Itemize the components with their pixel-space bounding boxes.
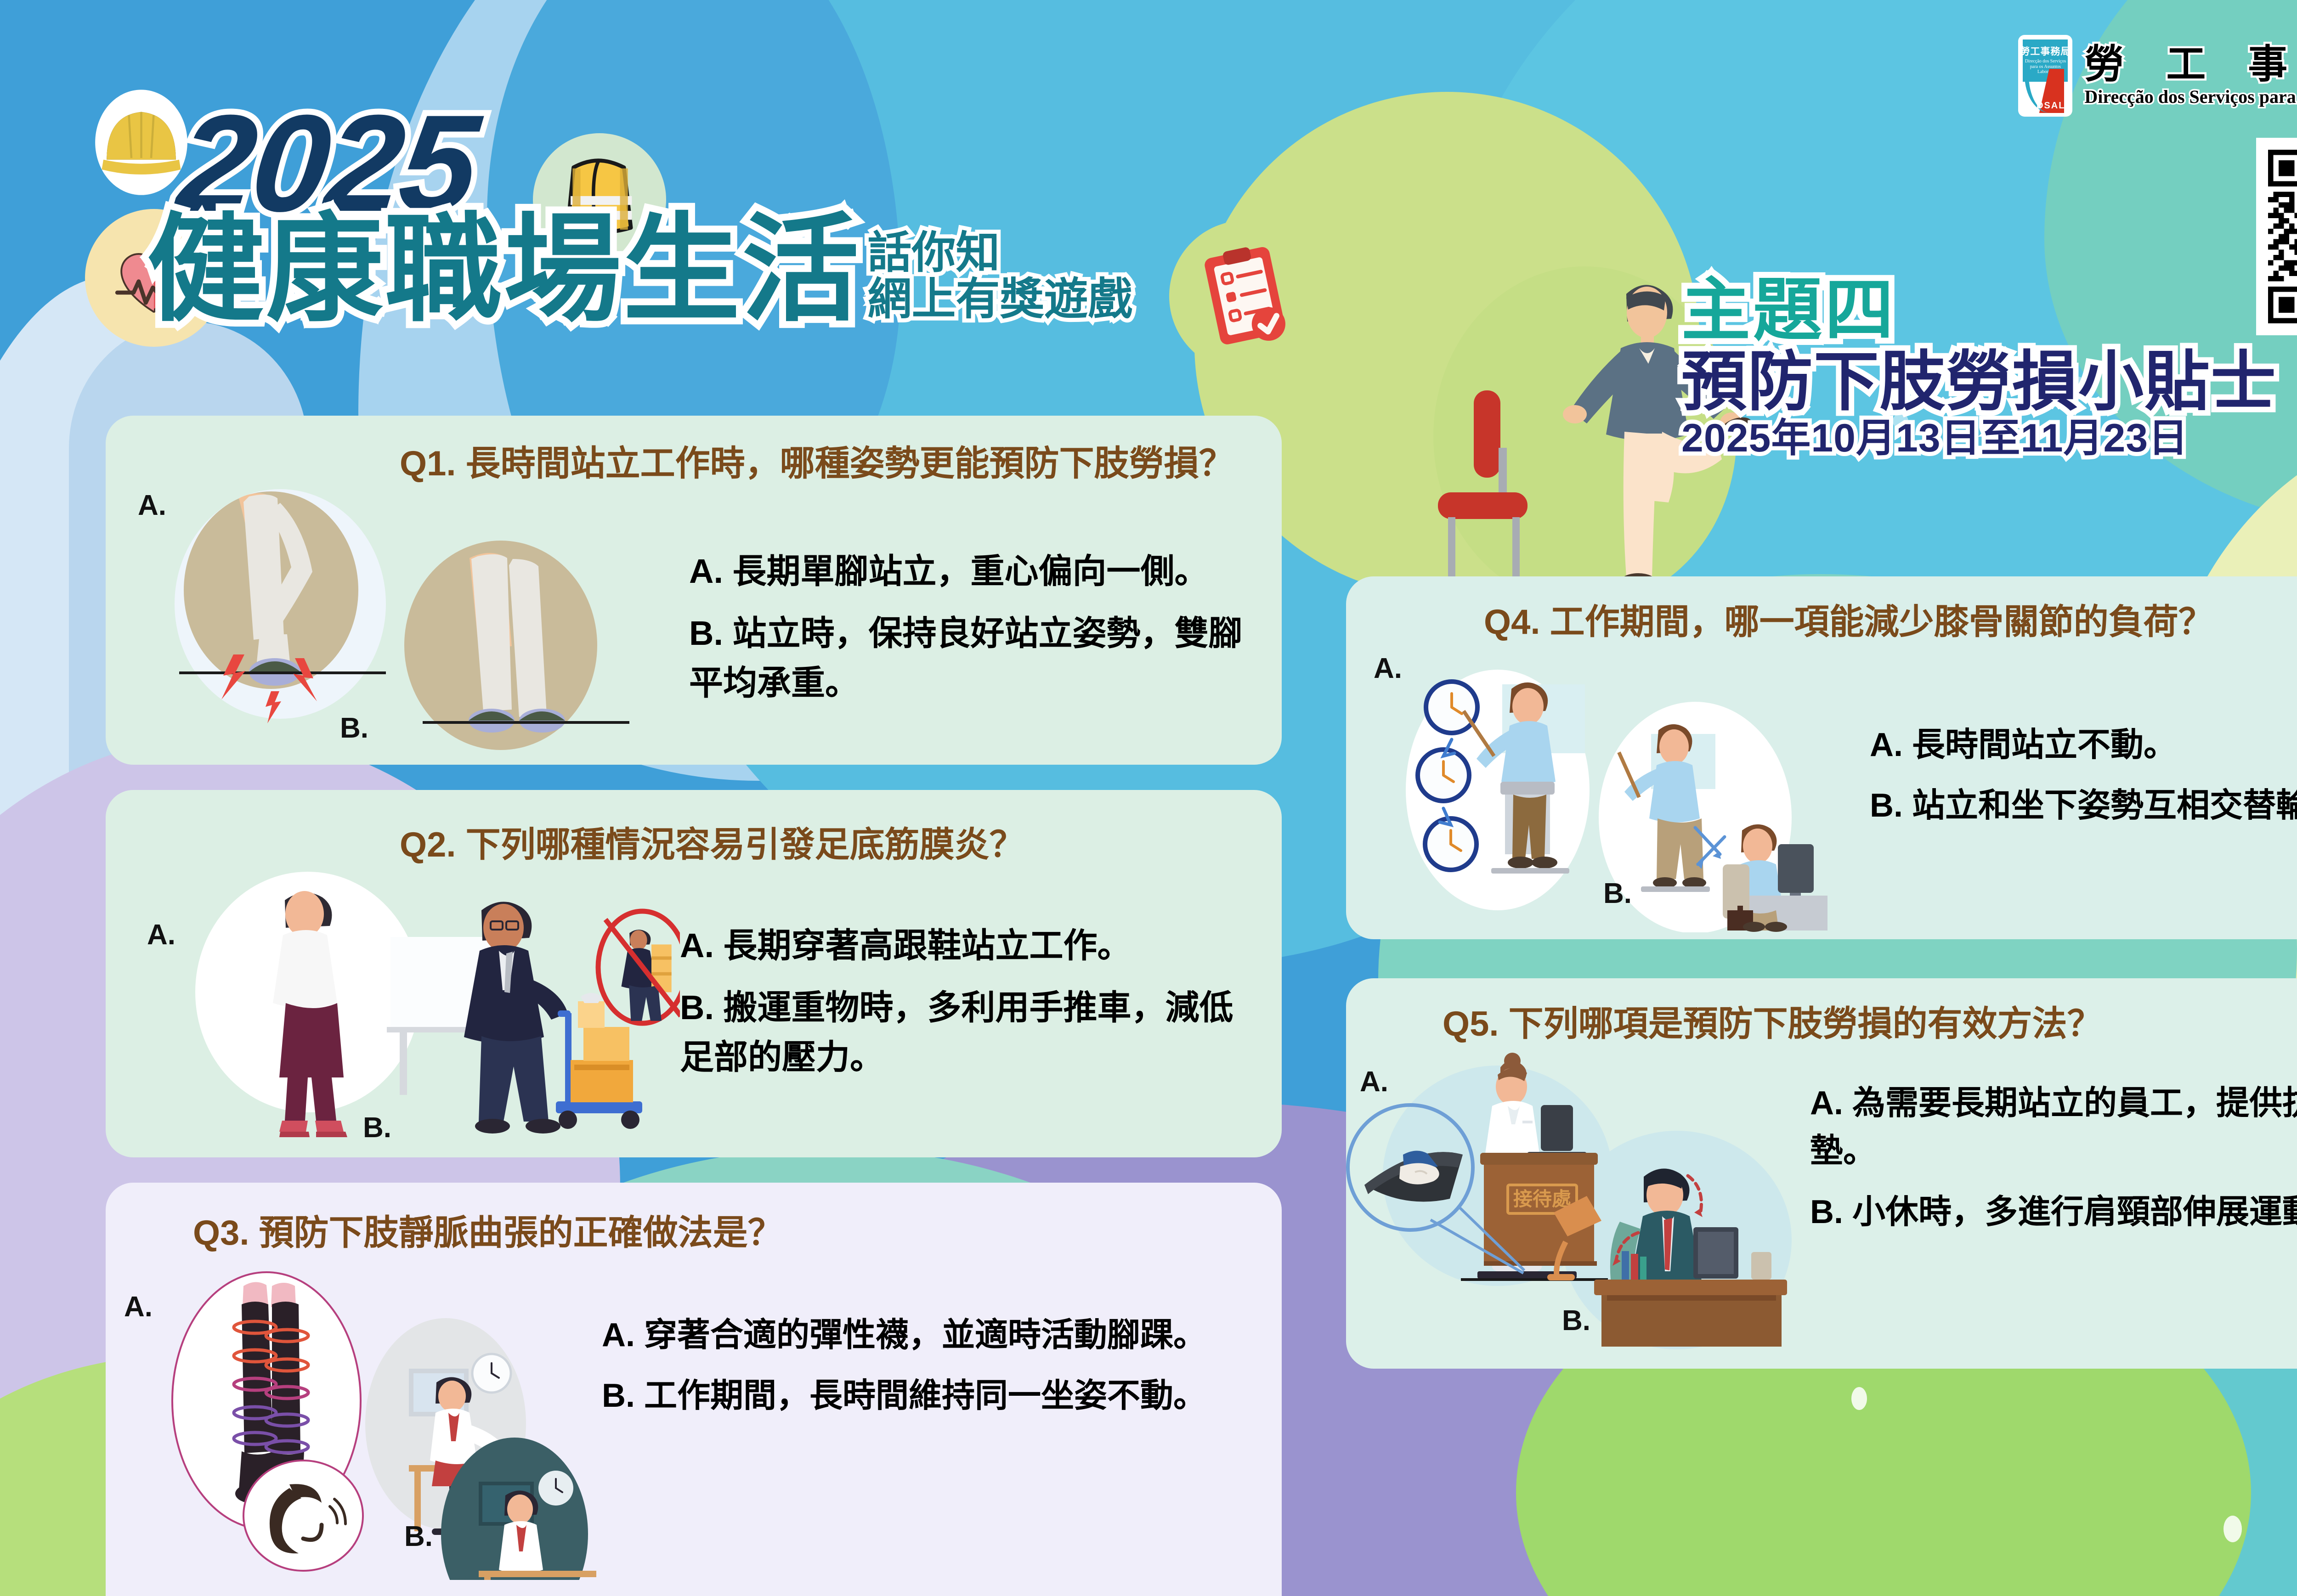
q1-marker-b: B.: [340, 712, 368, 744]
q4-marker-b: B.: [1603, 877, 1632, 910]
poster-sub-title: 話你知 網上有獎遊戲: [867, 230, 1132, 323]
q5-options: A. 為需要長期站立的員工，提供抗疲勞地墊。 B. 小休時，多進行肩頸部伸展運動…: [1810, 1079, 2297, 1249]
dsal-name-pt: Direcção dos Serviços para os Assuntos L…: [2084, 86, 2297, 107]
q4-option-b: B. 站立和坐下姿勢互相交替輪換。: [1870, 782, 2297, 829]
q1-illustration: [129, 452, 648, 756]
poster-canvas: 2025 健康職場生活 話你知 網上有獎遊戲 勞工事務局 Direcção do…: [0, 0, 2297, 1596]
q5-option-a: A. 為需要長期站立的員工，提供抗疲勞地墊。: [1810, 1079, 2297, 1175]
q1-option-b: B. 站立時，保持良好站立姿勢，雙腳平均承重。: [689, 609, 1254, 707]
q2-question-text: Q2. 下列哪種情況容易引發足底筋膜炎？: [400, 822, 1263, 868]
q5-marker-b: B.: [1562, 1304, 1590, 1337]
q2-options: A. 長期穿著高跟鞋站立工作。 B. 搬運重物時，多利用手推車，減低足部的壓力。: [680, 921, 1259, 1094]
q1-question-text: Q1. 長時間站立工作時，哪種姿勢更能預防下肢勞損？: [400, 441, 1273, 487]
q5-question-text: Q5. 下列哪項是預防下肢勞損的有效方法？: [1443, 1001, 2297, 1047]
dsal-mark-abbr: DSAL: [2037, 101, 2065, 111]
q3-illustration: [152, 1258, 611, 1580]
q3-marker-b: B.: [404, 1520, 433, 1553]
q3-question-text: Q3. 預防下肢靜脈曲張的正確做法是？: [193, 1210, 1158, 1256]
q3-option-b: B. 工作期間，長時間維持同一坐姿不動。: [602, 1372, 1250, 1420]
q1-marker-a: A.: [138, 489, 166, 522]
theme-title: 預防下肢勞損小貼士: [1681, 349, 2297, 416]
dsal-logo-mark: 勞工事務局 Direcção dos Serviços para os Assu…: [2020, 37, 2071, 115]
sub-title-line-2: 網上有獎遊戲: [867, 275, 1132, 324]
q2-illustration: [152, 859, 680, 1153]
q3-options: A. 穿著合適的彈性襪，並適時活動腳踝。 B. 工作期間，長時間維持同一坐姿不動…: [602, 1311, 1250, 1433]
q2-option-a: A. 長期穿著高跟鞋站立工作。: [680, 921, 1259, 970]
poster-main-title: 健康職場生活: [147, 211, 861, 328]
q3-marker-a: A.: [124, 1291, 153, 1323]
q5-option-b: B. 小休時，多進行肩頸部伸展運動。: [1810, 1188, 2297, 1236]
dsal-logo-text: 勞 工 事 務 局 Direcção dos Serviços para os …: [2084, 45, 2297, 107]
q4-marker-a: A.: [1374, 652, 1402, 685]
theme-header: 主題四 預防下肢勞損小貼士 2025年10月13日至11月23日: [1681, 276, 2297, 459]
q1-options: A. 長期單腳站立，重心偏向一側。 B. 站立時，保持良好站立姿勢，雙腳平均承重…: [689, 547, 1254, 720]
sub-title-line-1: 話你知: [867, 228, 1000, 277]
q4-options: A. 長時間站立不動。 B. 站立和坐下姿勢互相交替輪換。: [1870, 721, 2297, 843]
q4-option-a: A. 長時間站立不動。: [1870, 721, 2297, 769]
q2-marker-a: A.: [147, 919, 175, 951]
q1-option-a: A. 長期單腳站立，重心偏向一側。: [689, 547, 1254, 596]
decorative-dot: [1851, 1387, 1867, 1410]
q3-option-a: A. 穿著合適的彈性襪，並適時活動腳踝。: [602, 1311, 1250, 1359]
theme-date-range: 2025年10月13日至11月23日: [1681, 417, 2297, 459]
decorative-dot: [2223, 1516, 2242, 1542]
theme-label: 主題四: [1681, 276, 2297, 344]
title-block: 2025 健康職場生活 話你知 網上有獎遊戲: [138, 92, 1355, 333]
dsal-logo: 勞工事務局 Direcção dos Serviços para os Assu…: [2020, 37, 2297, 115]
dsal-name-cn: 勞 工 事 務 局: [2084, 45, 2297, 84]
dsal-mark-cn: 勞工事務局: [2020, 44, 2071, 58]
q2-option-b: B. 搬運重物時，多利用手推車，減低足部的壓力。: [680, 983, 1259, 1082]
q2-marker-b: B.: [363, 1111, 391, 1144]
q5-illustration: 接待處: [1346, 1047, 1879, 1350]
q4-question-text: Q4. 工作期間，哪一項能減少膝骨關節的負荷？: [1484, 599, 2297, 645]
q5-marker-a: A.: [1360, 1066, 1388, 1098]
q5-reception-sign-text: 接待處: [1513, 1188, 1571, 1210]
